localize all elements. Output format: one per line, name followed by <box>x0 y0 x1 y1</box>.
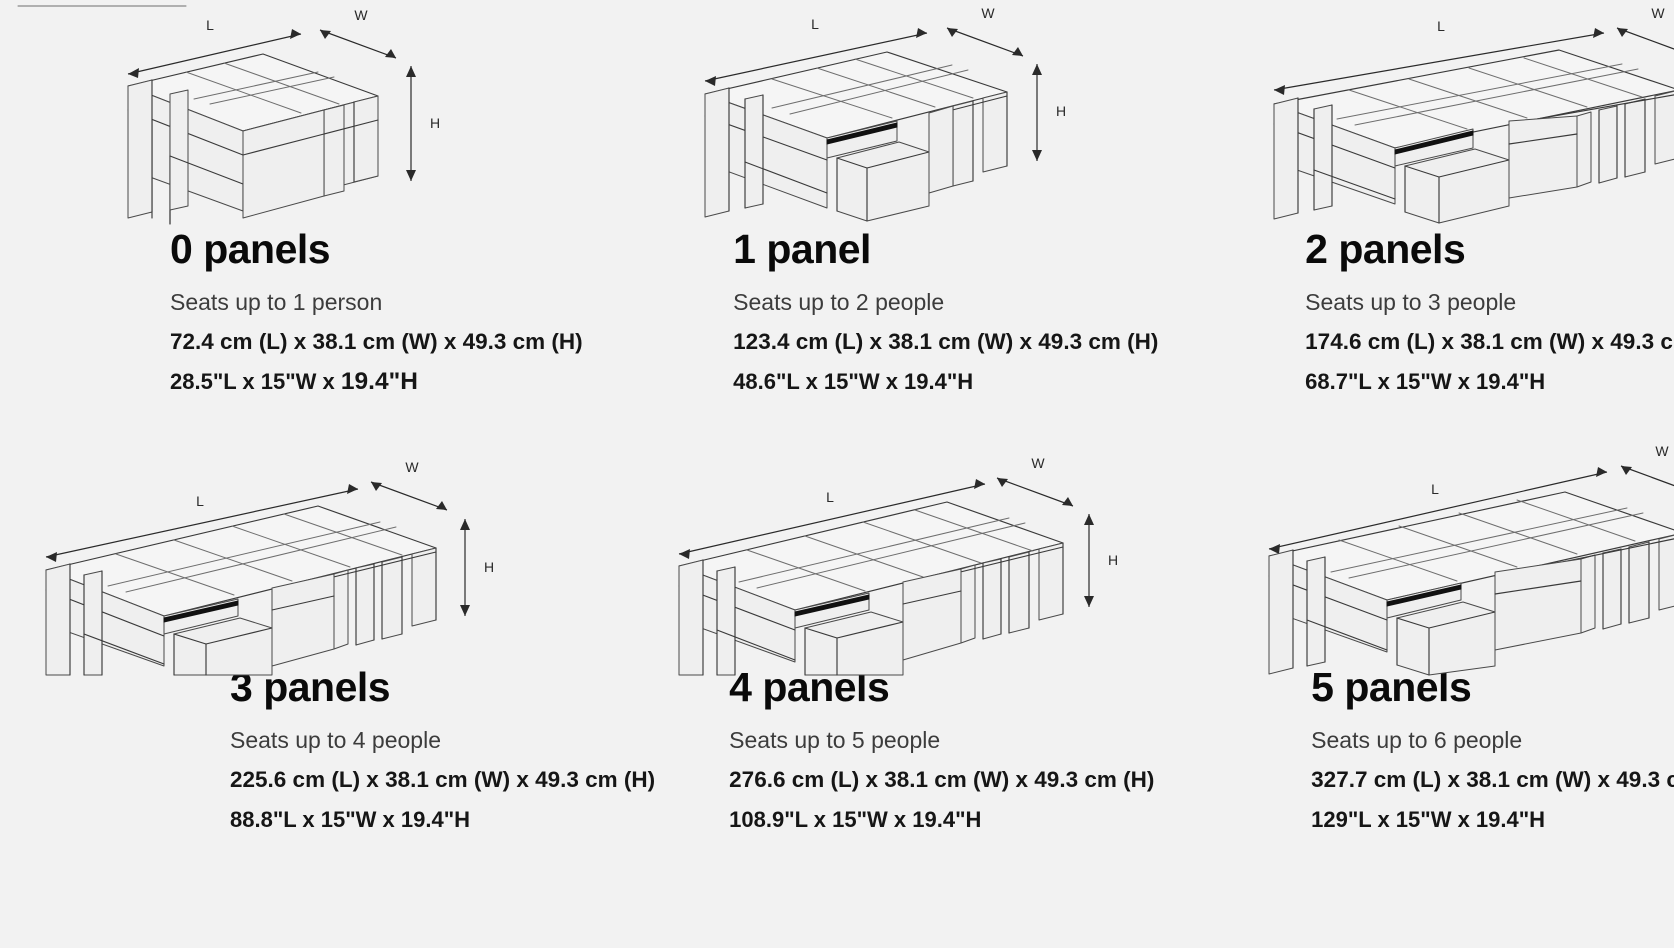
variant-card-2-panels: L W H <box>1237 6 1674 444</box>
variant-metric-dimensions: 327.7 cm (L) x 38.1 cm (W) x 49.3 cm (H) <box>1311 766 1674 793</box>
imperial-main: 28.5"L x 15"W x <box>170 369 341 394</box>
variant-imperial-dimensions: 88.8"L x 15"W x 19.4"H <box>230 805 655 834</box>
variant-card-0-panels: L W H <box>0 6 655 444</box>
variant-seats: Seats up to 3 people <box>1305 289 1674 317</box>
variant-seats: Seats up to 6 people <box>1311 727 1674 755</box>
table-illustration-5-panels: L W H <box>1257 444 1674 666</box>
variant-metric-dimensions: 72.4 cm (L) x 38.1 cm (W) x 49.3 cm (H) <box>170 328 655 355</box>
variant-metric-dimensions: 276.6 cm (L) x 38.1 cm (W) x 49.3 cm (H) <box>729 766 1237 793</box>
width-label: W <box>1652 5 1666 21</box>
table-diagram-svg: L W H <box>28 444 588 676</box>
variant-imperial-dimensions: 129"L x 15"W x 19.4"H <box>1311 805 1674 834</box>
variant-card-4-panels: L W H <box>655 444 1237 882</box>
variant-imperial-dimensions: 108.9"L x 15"W x 19.4"H <box>729 805 1237 834</box>
variant-text-0-panels: 0 panels Seats up to 1 person 72.4 cm (L… <box>170 228 655 396</box>
width-dimension-arrow <box>371 482 447 510</box>
variant-seats: Seats up to 4 people <box>230 727 655 755</box>
variant-text-2-panels: 2 panels Seats up to 3 people 174.6 cm (… <box>1305 228 1674 396</box>
variant-seats: Seats up to 1 person <box>170 289 655 317</box>
variant-card-1-panel: L W H <box>655 6 1237 444</box>
table-diagram-svg: L W H <box>667 444 1227 676</box>
variant-title: 2 panels <box>1305 228 1674 271</box>
width-label: W <box>1656 443 1670 459</box>
table-body <box>705 52 1007 221</box>
variant-metric-dimensions: 174.6 cm (L) x 38.1 cm (W) x 49.3 cm (H) <box>1305 328 1674 355</box>
imperial-tail: 19.4"H <box>341 368 418 395</box>
length-label: L <box>206 17 214 33</box>
table-body <box>18 6 378 224</box>
width-dimension-arrow <box>1617 28 1674 56</box>
width-label: W <box>982 5 996 21</box>
width-dimension-arrow <box>320 30 396 58</box>
table-size-grid: L W H <box>0 0 1674 948</box>
variant-seats: Seats up to 5 people <box>729 727 1237 755</box>
table-body <box>679 502 1063 675</box>
height-dimension-arrow <box>460 519 470 616</box>
table-body <box>1274 50 1674 223</box>
table-body <box>46 506 436 675</box>
imperial-main: 129"L x 15"W x 19.4"H <box>1311 807 1545 832</box>
variant-title: 0 panels <box>170 228 655 271</box>
width-label: W <box>1032 455 1046 471</box>
height-dimension-arrow <box>1032 64 1042 161</box>
table-illustration-4-panels: L W H <box>667 444 1237 666</box>
variant-imperial-dimensions: 68.7"L x 15"W x 19.4"H <box>1305 367 1674 396</box>
width-dimension-arrow <box>1621 466 1674 494</box>
variant-imperial-dimensions: 48.6"L x 15"W x 19.4"H <box>733 367 1237 396</box>
length-label: L <box>196 493 204 509</box>
height-label: H <box>484 559 494 575</box>
height-label: H <box>1056 103 1066 119</box>
table-diagram-svg: L W H <box>1257 444 1674 676</box>
length-label: L <box>1437 18 1445 34</box>
imperial-main: 48.6"L x 15"W x 19.4"H <box>733 369 973 394</box>
variant-text-5-panels: 5 panels Seats up to 6 people 327.7 cm (… <box>1311 666 1674 834</box>
table-illustration-2-panels: L W H <box>1259 6 1674 228</box>
variant-card-5-panels: L W H <box>1237 444 1674 882</box>
variant-title: 1 panel <box>733 228 1237 271</box>
imperial-main: 108.9"L x 15"W x 19.4"H <box>729 807 981 832</box>
height-label: H <box>430 115 440 131</box>
table-diagram-svg: L W H <box>1259 6 1674 228</box>
variant-text-1-panel: 1 panel Seats up to 2 people 123.4 cm (L… <box>733 228 1237 396</box>
height-dimension-arrow <box>406 66 416 181</box>
height-dimension-arrow <box>1084 514 1094 607</box>
table-illustration-3-panels: L W H <box>28 444 655 666</box>
table-illustration-0-panels: L W H <box>18 6 655 228</box>
length-label: L <box>811 16 819 32</box>
length-label: L <box>1431 481 1439 497</box>
variant-card-3-panels: L W H <box>0 444 655 882</box>
width-label: W <box>354 7 368 23</box>
width-label: W <box>405 459 419 475</box>
table-diagram-svg: L W H <box>677 6 1237 228</box>
height-label: H <box>1108 552 1118 568</box>
length-label: L <box>826 489 834 505</box>
width-dimension-arrow <box>997 478 1073 506</box>
variant-imperial-dimensions: 28.5"L x 15"W x 19.4"H <box>170 367 655 396</box>
variant-seats: Seats up to 2 people <box>733 289 1237 317</box>
table-diagram-svg: L W H <box>18 6 578 228</box>
variant-metric-dimensions: 123.4 cm (L) x 38.1 cm (W) x 49.3 cm (H) <box>733 328 1237 355</box>
variant-text-3-panels: 3 panels Seats up to 4 people 225.6 cm (… <box>230 666 655 834</box>
variant-metric-dimensions: 225.6 cm (L) x 38.1 cm (W) x 49.3 cm (H) <box>230 766 655 793</box>
imperial-main: 68.7"L x 15"W x 19.4"H <box>1305 369 1545 394</box>
variant-text-4-panels: 4 panels Seats up to 5 people 276.6 cm (… <box>729 666 1237 834</box>
table-illustration-1-panel: L W H <box>677 6 1237 228</box>
imperial-main: 88.8"L x 15"W x 19.4"H <box>230 807 470 832</box>
table-body <box>1269 492 1674 675</box>
width-dimension-arrow <box>947 28 1023 56</box>
